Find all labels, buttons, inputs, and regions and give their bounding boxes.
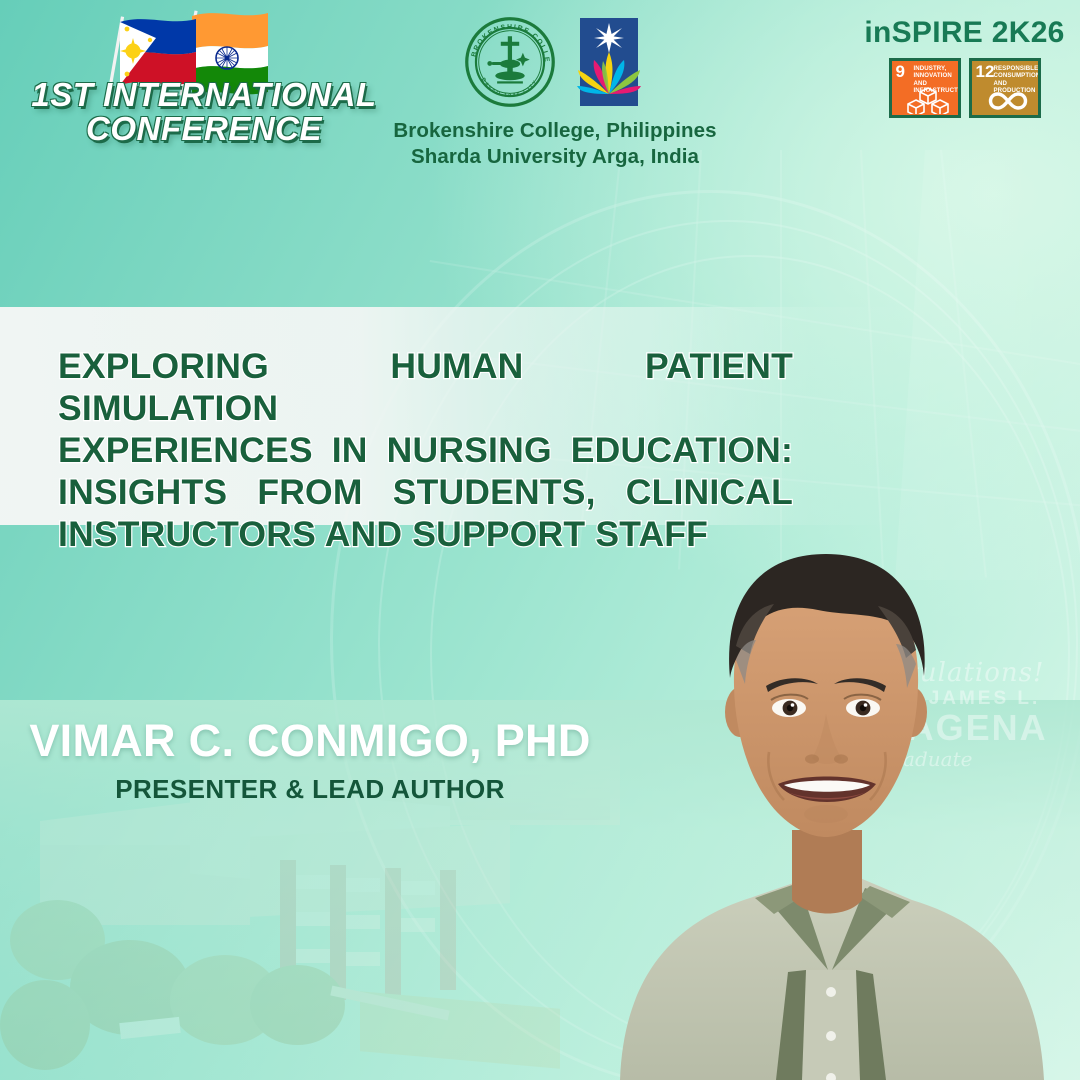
presenter-portrait <box>560 500 1080 1080</box>
conference-title-line2: CONFERENCE <box>14 112 394 146</box>
title-line-1: EXPLORING HUMAN PATIENT SIMULATION <box>58 346 793 430</box>
sdg-9-number: 9 <box>896 63 905 80</box>
institution-block: BROKENSHIRE COLLEGE DAVAO 1946 CITY <box>390 16 720 170</box>
sdg-goal-9: 9 INDUSTRY, INNOVATION AND INFRASTRUCTUR… <box>889 58 961 118</box>
presenter-role: PRESENTER & LEAD AUTHOR <box>0 774 620 805</box>
conference-poster: Congratulations! STEPHEN JAMES L. CARTAG… <box>0 0 1080 1080</box>
infinity-icon <box>972 84 1041 114</box>
poster-header: 1ST INTERNATIONAL CONFERENCE BROKENSHIRE… <box>0 0 1080 182</box>
title-line-2: EXPERIENCES IN NURSING EDUCATION: <box>58 430 793 472</box>
institution-line-1: Brokenshire College, Philippines <box>390 118 720 144</box>
conference-title: 1ST INTERNATIONAL CONFERENCE <box>14 78 394 146</box>
sdg-goals-row: 9 INDUSTRY, INNOVATION AND INFRASTRUCTUR… <box>857 58 1072 118</box>
institution-names: Brokenshire College, Philippines Sharda … <box>390 118 720 170</box>
institution-line-2: Sharda University Arga, India <box>390 144 720 170</box>
svg-text:BROKENSHIRE COLLEGE: BROKENSHIRE COLLEGE <box>464 16 550 63</box>
sdg-goal-12: 12 RESPONSIBLE CONSUMPTION AND PRODUCTIO… <box>969 58 1041 118</box>
presenter-photo-illustration <box>560 500 1080 1080</box>
presenter-block: VIMAR C. CONMIGO, PHD PRESENTER & LEAD A… <box>0 718 620 805</box>
sharda-university-logo-icon <box>572 16 646 112</box>
sdg-12-number: 12 <box>976 63 995 80</box>
cubes-icon <box>892 84 961 114</box>
svg-text:DAVAO 1946 CITY: DAVAO 1946 CITY <box>480 77 539 99</box>
conference-title-line1: 1ST INTERNATIONAL <box>14 78 394 112</box>
event-name: inSPIRE 2K26 <box>857 18 1072 48</box>
presenter-name: VIMAR C. CONMIGO, PHD <box>0 718 620 765</box>
event-brand-block: inSPIRE 2K26 9 INDUSTRY, INNOVATION AND … <box>857 18 1072 118</box>
brokenshire-college-seal-icon: BROKENSHIRE COLLEGE DAVAO 1946 CITY <box>464 16 556 108</box>
